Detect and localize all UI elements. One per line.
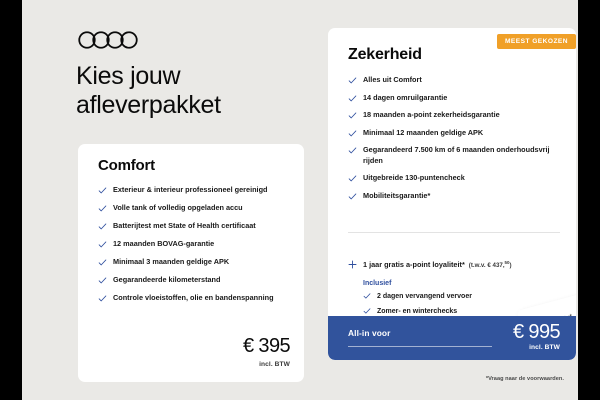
list-item: Controle vloeistoffen, olie en bandenspa… (98, 293, 294, 304)
comfort-price: € 395 (243, 336, 290, 356)
check-icon (348, 192, 357, 201)
list-item-label: Exterieur & interieur professioneel gere… (113, 185, 268, 194)
bonus-worth-prefix: (t.w.v. € 437, (469, 262, 505, 269)
list-item: Minimaal 12 maanden geldige APK (348, 128, 562, 139)
zekerheid-package-card[interactable]: MEEST GEKOZEN Zekerheid Alles uit Comfor… (328, 28, 576, 360)
list-item: 2 dagen vervangend vervoer (363, 292, 472, 301)
list-item: Alles uit Comfort (348, 75, 562, 86)
check-icon (98, 186, 107, 195)
audi-four-rings-logo-icon (78, 30, 140, 50)
terms-footnote: *Vraag naar de voorwaarden. (328, 376, 576, 382)
check-icon (98, 204, 107, 213)
check-icon (363, 307, 371, 315)
bonus-worth-suffix: ) (509, 262, 511, 269)
list-item-label: Uitgebreide 130-puntencheck (363, 173, 465, 182)
list-item-label: Alles uit Comfort (363, 75, 422, 84)
page-canvas: Kies jouw afleverpakket Comfort Exterieu… (22, 0, 578, 400)
list-item-label: 12 maanden BOVAG-garantie (113, 239, 214, 248)
list-item: 18 maanden a-point zekerheidsgarantie (348, 110, 562, 121)
list-item-label: Gegarandeerde kilometerstand (113, 275, 220, 284)
inclusief-label: Inclusief (363, 280, 472, 287)
check-icon (348, 111, 357, 120)
check-icon (98, 294, 107, 303)
comfort-card-title: Comfort (98, 157, 155, 174)
list-item: Gegarandeerde kilometerstand (98, 275, 294, 286)
check-icon (98, 258, 107, 267)
list-item: Zomer- en winterchecks (363, 307, 472, 316)
allin-label: All-in voor (348, 328, 391, 338)
list-item: Minimaal 3 maanden geldige APK (98, 257, 294, 268)
check-icon (363, 292, 371, 300)
check-icon (348, 129, 357, 138)
list-item-label: 18 maanden a-point zekerheidsgarantie (363, 110, 500, 119)
list-item-label: Zomer- en winterchecks (377, 308, 457, 315)
check-icon (348, 76, 357, 85)
zekerheid-card-title: Zekerheid (348, 46, 422, 64)
list-item: Mobiliteitsgarantie* (348, 191, 562, 202)
footer-rule (348, 346, 492, 347)
check-icon (98, 276, 107, 285)
list-item-label: Batterijtest met State of Health certifi… (113, 221, 256, 230)
list-item-label: Gegarandeerd 7.500 km of 6 maanden onder… (363, 145, 550, 165)
zekerheid-price: € 995 (513, 322, 560, 342)
comfort-package-card[interactable]: Comfort Exterieur & interieur profession… (78, 144, 304, 382)
comfort-feature-list: Exterieur & interieur professioneel gere… (98, 185, 294, 311)
price-footer-bar: All-in voor € 995 incl. BTW (328, 316, 576, 360)
list-item-label: Minimaal 12 maanden geldige APK (363, 128, 483, 137)
bonus-worth: (t.w.v. € 437,50) (469, 262, 512, 269)
list-item-label: Controle vloeistoffen, olie en bandenspa… (113, 293, 274, 302)
list-item: Uitgebreide 130-puntencheck (348, 173, 562, 184)
page-title: Kies jouw afleverpakket (76, 62, 316, 120)
status-badge: MEEST GEKOZEN (497, 34, 576, 49)
list-item: Batterijtest met State of Health certifi… (98, 221, 294, 232)
section-divider (348, 232, 560, 233)
zekerheid-feature-list: Alles uit Comfort 14 dagen omruilgaranti… (348, 75, 562, 208)
screenshot-stage: Kies jouw afleverpakket Comfort Exterieu… (0, 0, 600, 400)
bonus-row: 1 jaar gratis a-point loyaliteit*(t.w.v.… (348, 260, 564, 269)
list-item: Volle tank of volledig opgeladen accu (98, 203, 294, 214)
check-icon (98, 240, 107, 249)
list-item-label: Minimaal 3 maanden geldige APK (113, 257, 229, 266)
list-item: 12 maanden BOVAG-garantie (98, 239, 294, 250)
check-icon (348, 146, 357, 155)
list-item-label: 14 dagen omruilgarantie (363, 93, 447, 102)
plus-icon (348, 260, 357, 269)
comfort-price-note: incl. BTW (259, 361, 290, 368)
check-icon (348, 174, 357, 183)
list-item-label: 2 dagen vervangend vervoer (377, 293, 472, 300)
list-item: Exterieur & interieur professioneel gere… (98, 185, 294, 196)
check-icon (348, 94, 357, 103)
bonus-label: 1 jaar gratis a-point loyaliteit* (363, 260, 465, 269)
list-item: Gegarandeerd 7.500 km of 6 maanden onder… (348, 145, 562, 166)
check-icon (98, 222, 107, 231)
list-item-label: Volle tank of volledig opgeladen accu (113, 203, 243, 212)
zekerheid-price-note: incl. BTW (529, 344, 560, 351)
list-item-label: Mobiliteitsgarantie* (363, 191, 430, 200)
list-item: 14 dagen omruilgarantie (348, 93, 562, 104)
